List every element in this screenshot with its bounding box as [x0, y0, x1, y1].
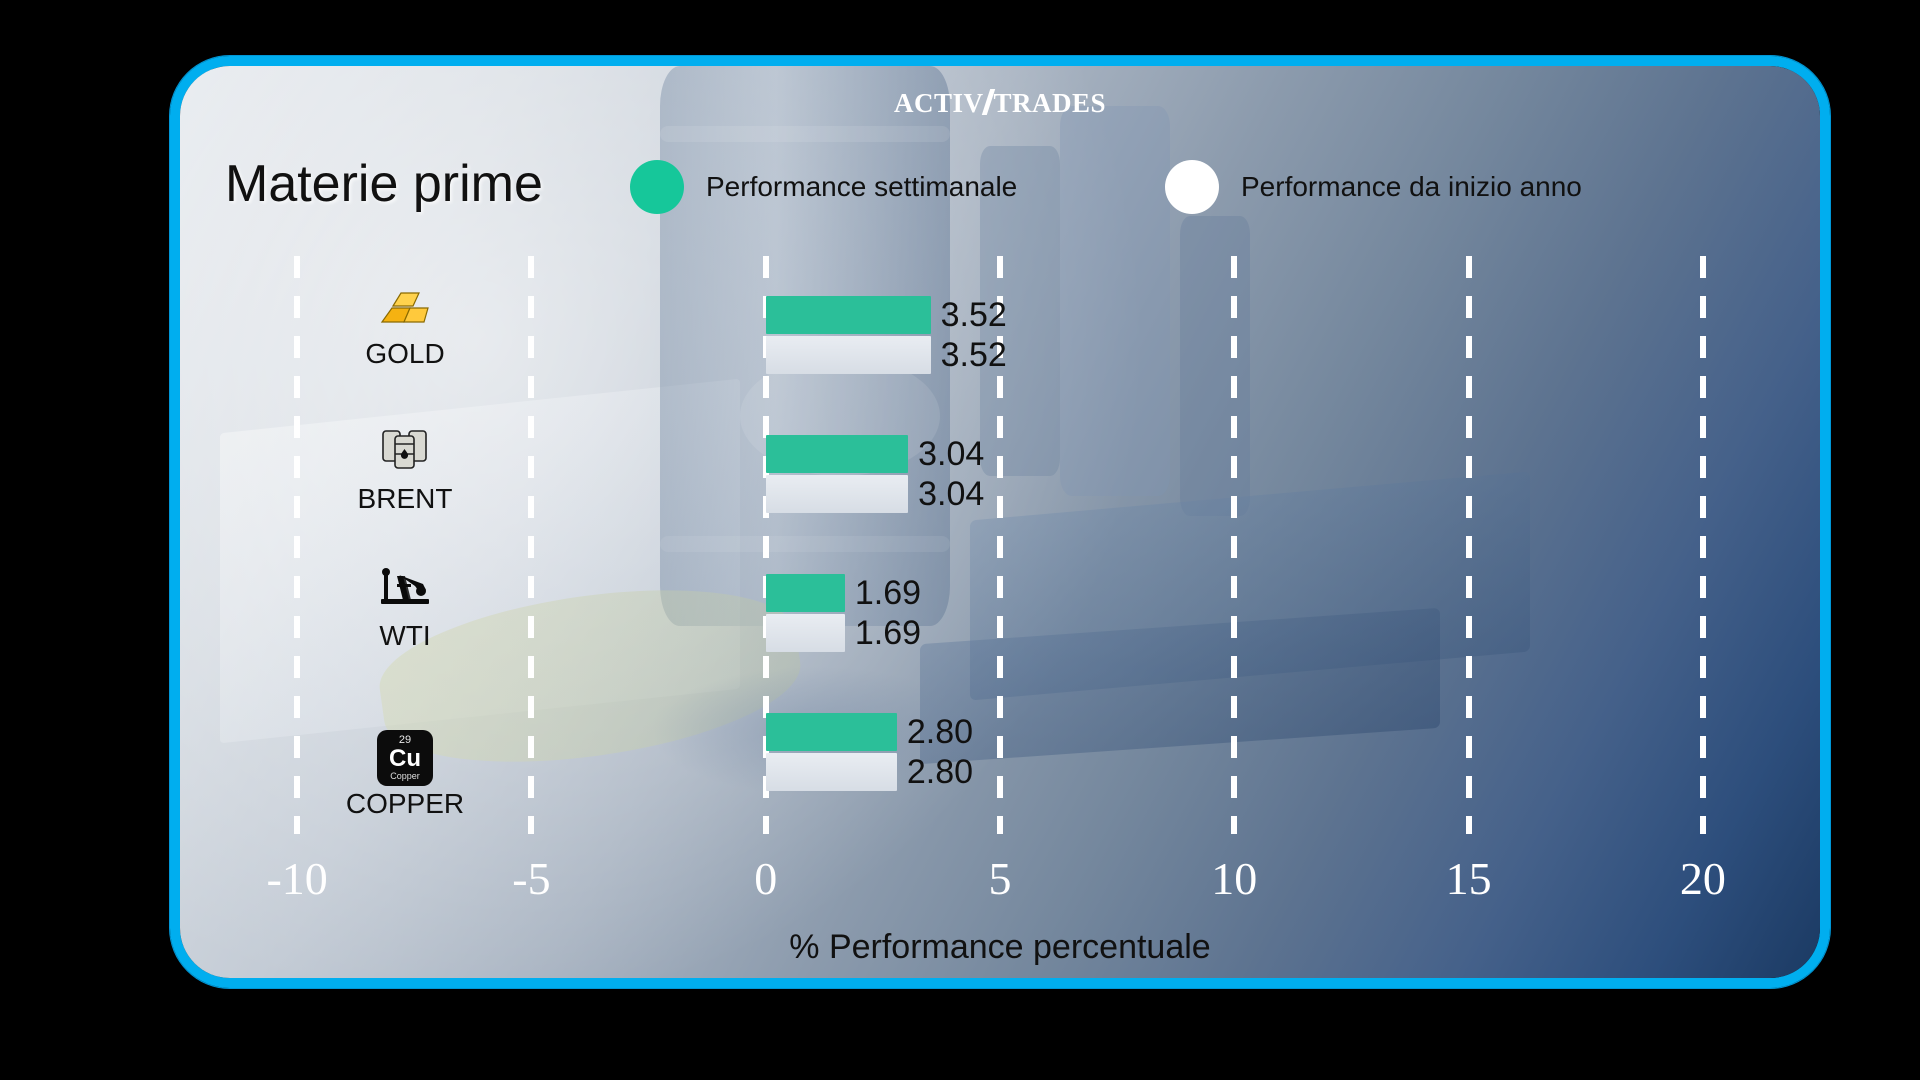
legend-item-weekly[interactable]: Performance settimanale	[630, 160, 1017, 214]
bar-row-copper-settimanale: 2.80	[766, 713, 973, 751]
bar-row-wti-settimanale: 1.69	[766, 574, 921, 612]
oil-barrels-icon	[290, 423, 520, 481]
bar-gold-weekly	[766, 296, 931, 334]
gridline-15	[1466, 256, 1472, 834]
legend-item-ytd[interactable]: Performance da inizio anno	[1165, 160, 1582, 214]
bar-value-label: 3.04	[918, 435, 984, 474]
category-copper: 29CuCopperCOPPER	[290, 701, 520, 820]
bar-gold-ytd	[766, 336, 931, 374]
bar-value-label: 3.52	[941, 336, 1007, 375]
bar-row-brent-settimanale: 3.04	[766, 435, 985, 473]
bar-row-copper-da: 2.80	[766, 753, 973, 791]
copper-element-icon: 29CuCopper	[290, 701, 520, 786]
bar-value-label: 2.80	[907, 753, 973, 792]
x-tick-label-0: 0	[754, 852, 777, 905]
oil-pump-icon	[377, 562, 433, 608]
category-label: GOLD	[290, 338, 520, 370]
logo-text-trades: Trades	[993, 88, 1106, 118]
x-tick-label--10: -10	[266, 852, 327, 905]
bar-value-label: 3.52	[941, 296, 1007, 335]
bar-row-gold-settimanale: 3.52	[766, 296, 1007, 334]
category-label: BRENT	[290, 483, 520, 515]
gridline--5	[528, 256, 534, 834]
page-title: Materie prime	[225, 154, 543, 214]
legend-label-ytd: Performance da inizio anno	[1241, 171, 1582, 203]
gridline-20	[1700, 256, 1706, 834]
bar-brent-weekly	[766, 435, 908, 473]
bar-copper-weekly	[766, 713, 897, 751]
bar-value-label: 1.69	[855, 614, 921, 653]
bar-brent-ytd	[766, 475, 908, 513]
bar-wti-ytd	[766, 614, 845, 652]
logo-text-activ: Activ	[894, 88, 984, 118]
x-axis-title: % Performance percentuale	[180, 928, 1820, 967]
category-label: COPPER	[290, 788, 520, 820]
copper-element-icon: 29CuCopper	[377, 730, 433, 786]
oil-pump-icon	[290, 562, 520, 618]
category-brent: BRENT	[290, 423, 520, 515]
activtrades-logo: ActivTrades	[180, 88, 1820, 119]
legend-dot-ytd-icon	[1165, 160, 1219, 214]
x-tick-label--5: -5	[512, 852, 550, 905]
gold-bars-icon	[378, 286, 432, 326]
bar-value-label: 1.69	[855, 574, 921, 613]
oil-barrels-icon	[380, 423, 430, 471]
category-gold: GOLD	[290, 284, 520, 370]
category-wti: WTI	[290, 562, 520, 652]
screenshot-root: ActivTrades Materie prime Performance se…	[0, 0, 1920, 1080]
x-tick-label-5: 5	[989, 852, 1012, 905]
chart-frame: ActivTrades Materie prime Performance se…	[170, 56, 1830, 988]
bar-copper-ytd	[766, 753, 897, 791]
bar-value-label: 3.04	[918, 475, 984, 514]
bar-row-brent-da: 3.04	[766, 475, 985, 513]
x-tick-label-10: 10	[1211, 852, 1257, 905]
legend-dot-weekly-icon	[630, 160, 684, 214]
x-tick-label-20: 20	[1680, 852, 1726, 905]
category-label: WTI	[290, 620, 520, 652]
header-row: Materie prime Performance settimanale Pe…	[180, 154, 1820, 224]
x-tick-label-15: 15	[1446, 852, 1492, 905]
legend-label-weekly: Performance settimanale	[706, 171, 1017, 203]
bar-wti-weekly	[766, 574, 845, 612]
gold-bars-icon	[290, 284, 520, 336]
gridline-10	[1231, 256, 1237, 834]
bar-value-label: 2.80	[907, 713, 973, 752]
bar-row-wti-da: 1.69	[766, 614, 921, 652]
bar-row-gold-da: 3.52	[766, 336, 1007, 374]
plot-area: GOLDBRENTWTI29CuCopperCOPPER 3.523.523.0…	[180, 256, 1820, 856]
